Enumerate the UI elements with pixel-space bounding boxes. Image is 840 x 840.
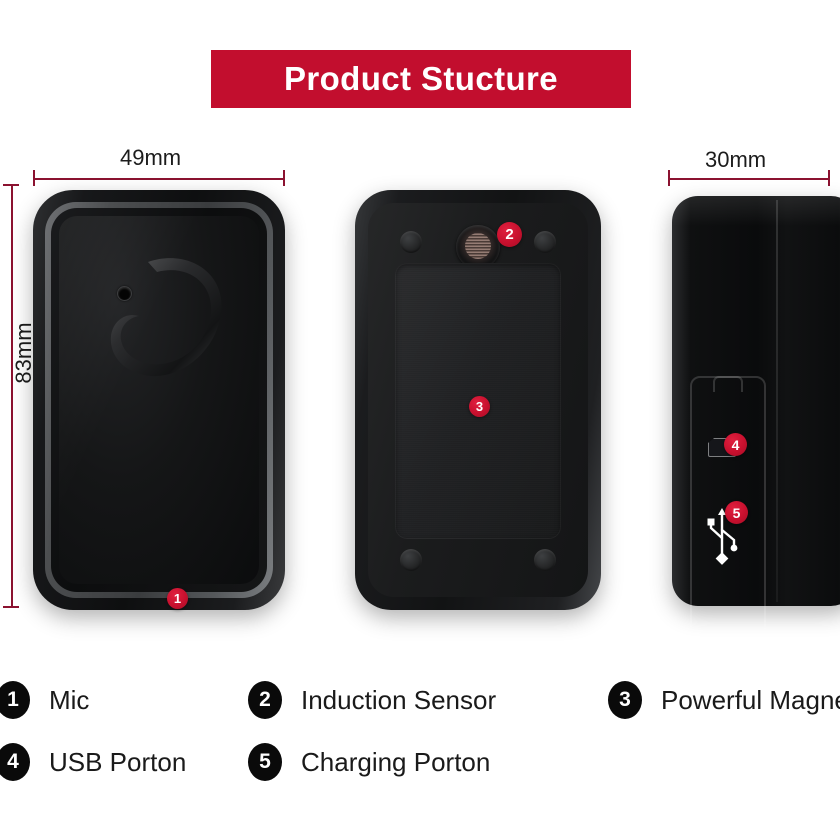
legend-badge-5: 5 (248, 743, 282, 781)
legend-badge-4: 4 (0, 743, 30, 781)
legend-label-3: Powerful Magnet (661, 685, 840, 716)
dimension-label-width-front: 49mm (120, 145, 181, 171)
legend-row: 4 USB Porton 5 Charging Porton (0, 734, 840, 790)
dimension-line-height-front (11, 184, 13, 608)
legend-item-mic[interactable]: 1 Mic (0, 672, 89, 728)
device-front-face (59, 216, 259, 584)
screw-icon-bottom-left (400, 549, 422, 571)
port-cover-panel (690, 376, 766, 716)
legend-label-5: Charging Porton (301, 747, 490, 778)
legend-item-charging-porton[interactable]: 5 Charging Porton (248, 734, 490, 790)
dimension-tick-top (3, 184, 19, 186)
front-view (33, 190, 285, 610)
device-seam-line (776, 200, 778, 602)
product-structure-diagram: Product Stucture 49mm 83mm 30mm (0, 0, 840, 840)
dimension-line-width-side (668, 178, 830, 180)
hook-logo-icon (105, 252, 231, 382)
dimension-line-width-front (33, 178, 285, 180)
led-indicator-icon (117, 286, 132, 301)
legend-item-induction-sensor[interactable]: 2 Induction Sensor (248, 672, 496, 728)
legend-label-2: Induction Sensor (301, 685, 496, 716)
screw-icon-top-right (534, 231, 556, 253)
legend-label-4: USB Porton (49, 747, 186, 778)
port-cover-tab (713, 376, 743, 392)
page-title: Product Stucture (284, 60, 558, 98)
screw-icon-top-left (400, 231, 422, 253)
legend-item-powerful-magnet[interactable]: 3 Powerful Magnet (608, 672, 840, 728)
legend: 1 Mic 2 Induction Sensor 3 Powerful Magn… (0, 672, 840, 812)
legend-badge-2: 2 (248, 681, 282, 719)
dimension-tick-bottom (3, 606, 19, 608)
callout-badge-2[interactable]: 2 (497, 222, 522, 247)
legend-item-usb-porton[interactable]: 4 USB Porton (0, 734, 186, 790)
dimension-label-width-side: 30mm (705, 147, 766, 173)
dimension-tick-left (33, 170, 35, 186)
legend-row: 1 Mic 2 Induction Sensor 3 Powerful Magn… (0, 672, 840, 728)
legend-label-1: Mic (49, 685, 89, 716)
dimension-tick-side-left (668, 170, 670, 186)
callout-badge-4[interactable]: 4 (724, 433, 747, 456)
callout-badge-5[interactable]: 5 (725, 501, 748, 524)
legend-badge-1: 1 (0, 681, 30, 719)
legend-badge-3: 3 (608, 681, 642, 719)
side-view (672, 196, 840, 606)
dimension-tick-side-right (828, 170, 830, 186)
screw-icon-bottom-right (534, 549, 556, 571)
callout-badge-3[interactable]: 3 (469, 396, 490, 417)
dimension-tick-right (283, 170, 285, 186)
callout-badge-1[interactable]: 1 (167, 588, 188, 609)
title-banner: Product Stucture (211, 50, 631, 108)
